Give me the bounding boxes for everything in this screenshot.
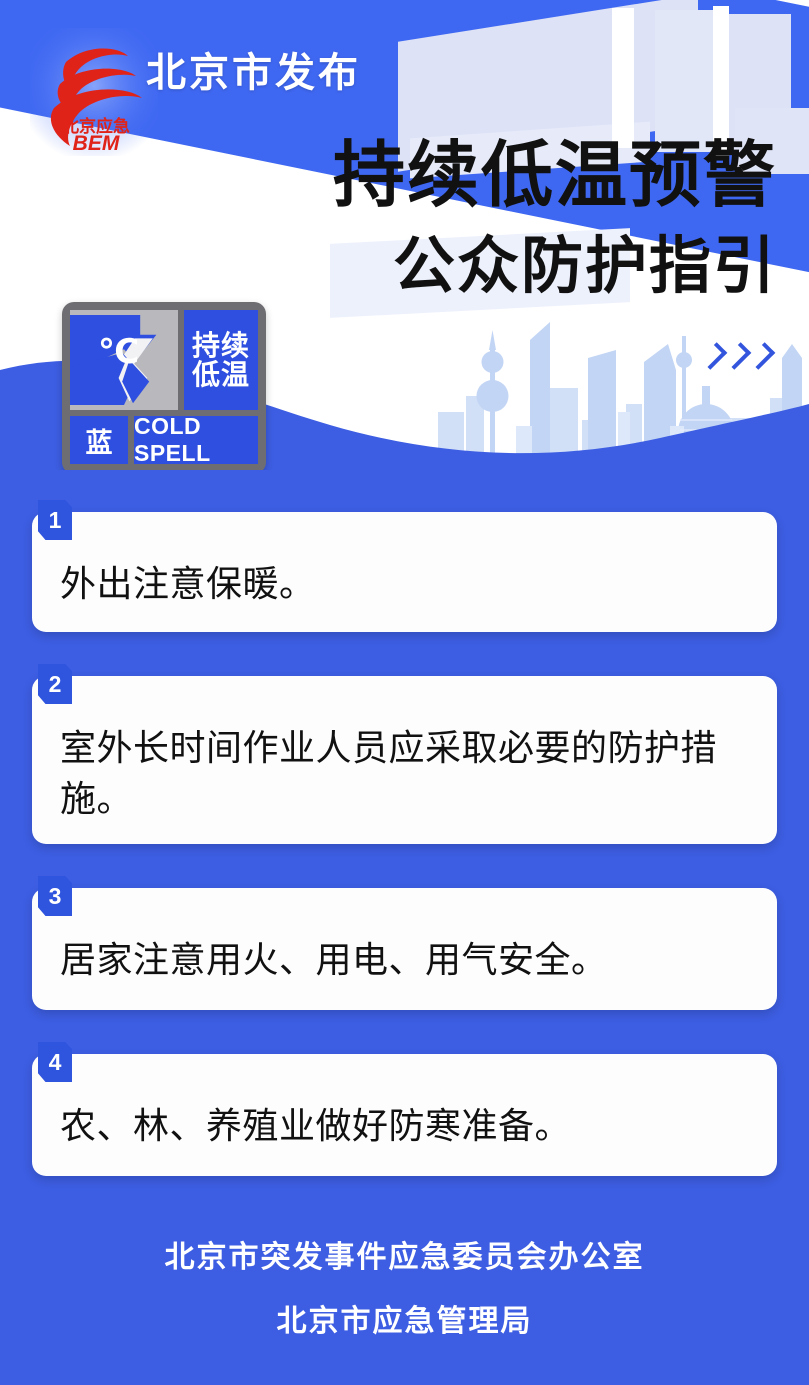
chevron-right-icon: [724, 342, 752, 370]
sign-cn-words: 持续 低温: [184, 310, 258, 410]
cold-spell-warning-sign: ℃ 持续 低温 蓝 COLD SPELL: [62, 302, 266, 470]
logo-en-text: BEM: [73, 132, 120, 155]
main-title-line2: 公众防护指引: [393, 236, 777, 298]
footer-line1: 北京市突发事件应急委员会办公室: [0, 1232, 809, 1276]
decorative-slab: [713, 6, 729, 156]
sign-english-label: COLD SPELL: [134, 416, 258, 464]
sign-pictogram: ℃: [70, 310, 178, 410]
chevron-group: [706, 344, 769, 368]
list-item: 3 居家注意用火、用电、用气安全。: [32, 888, 777, 1010]
brand-title: 北京市发布: [146, 40, 361, 98]
sign-word-line1: 持续: [192, 331, 250, 360]
item-number-badge: 3: [38, 876, 72, 916]
sign-word-line2: 低温: [192, 360, 250, 389]
sign-bottom-row: 蓝 COLD SPELL: [70, 416, 258, 464]
main-title-line1: 持续低温预警: [333, 140, 777, 212]
decorative-slab: [655, 10, 713, 152]
sign-level-badge: 蓝: [70, 416, 128, 464]
guideline-card-list: 1 外出注意保暖。 2 室外长时间作业人员应采取必要的防护措施。 3 居家注意用…: [32, 512, 777, 1220]
decorative-slab: [612, 8, 634, 148]
list-item: 1 外出注意保暖。: [32, 512, 777, 632]
item-text: 室外长时间作业人员应采取必要的防护措施。: [60, 722, 749, 824]
sign-top-row: ℃ 持续 低温: [70, 310, 258, 410]
item-text: 居家注意用火、用电、用气安全。: [60, 934, 749, 985]
list-item: 4 农、林、养殖业做好防寒准备。: [32, 1054, 777, 1176]
poster-root: 北京应急 BEM 北京市发布 持续低温预警 公众防护指引: [0, 0, 809, 1385]
list-item: 2 室外长时间作业人员应采取必要的防护措施。: [32, 676, 777, 844]
item-number-badge: 2: [38, 664, 72, 704]
footer: 北京市突发事件应急委员会办公室 北京市应急管理局: [0, 1232, 809, 1340]
beijing-emergency-logo-icon: 北京应急 BEM: [30, 28, 158, 156]
degree-celsius-label: ℃: [98, 332, 139, 372]
header-white-zone: 北京应急 BEM 北京市发布 持续低温预警 公众防护指引: [0, 0, 809, 470]
item-number-badge: 1: [38, 500, 72, 540]
footer-line2: 北京市应急管理局: [0, 1296, 809, 1340]
item-text: 外出注意保暖。: [60, 558, 749, 609]
item-number-badge: 4: [38, 1042, 72, 1082]
item-text: 农、林、养殖业做好防寒准备。: [60, 1100, 749, 1151]
